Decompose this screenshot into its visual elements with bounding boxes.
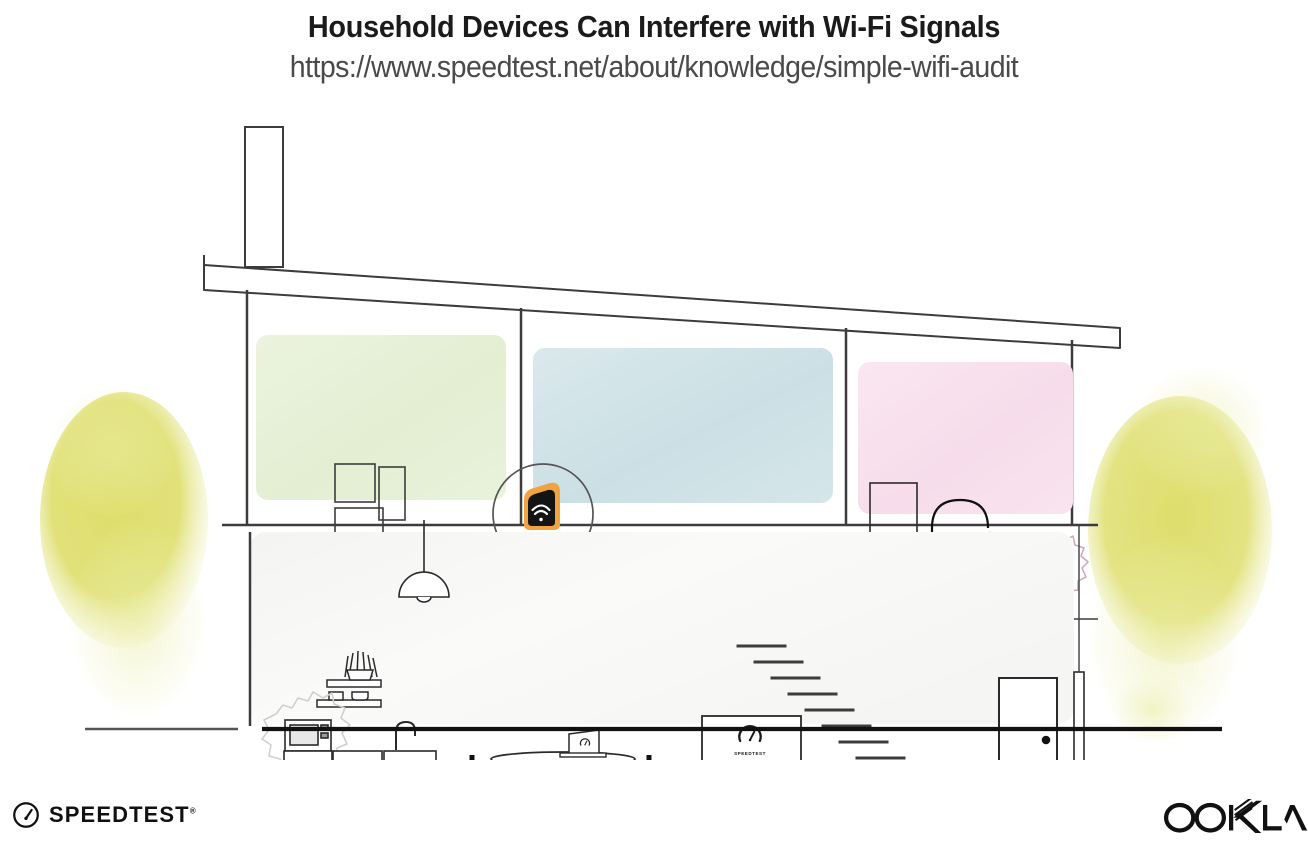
roof-slab: [204, 255, 1120, 348]
laptop-on-table: [560, 730, 606, 757]
foliage-right: [1088, 368, 1272, 742]
footer: SPEEDTEST® ®: [0, 781, 1308, 861]
side-window-pillar: [1074, 525, 1084, 760]
ookla-logo: ®: [1161, 799, 1308, 833]
speedtest-gauge-icon: [12, 801, 40, 829]
foliage-left: [40, 388, 208, 716]
tv-speedtest-label: SPEEDTEST: [734, 751, 766, 756]
house-diagram-svg: SPEEDTEST: [0, 100, 1308, 760]
speedtest-wordmark: SPEEDTEST®: [49, 802, 196, 828]
page-title: Household Devices Can Interfere with Wi-…: [46, 10, 1262, 44]
microwave: [285, 720, 331, 751]
page-root: Household Devices Can Interfere with Wi-…: [0, 0, 1308, 861]
speedtest-logo: SPEEDTEST®: [12, 801, 196, 829]
header: Household Devices Can Interfere with Wi-…: [0, 0, 1308, 86]
television: SPEEDTEST: [702, 716, 801, 760]
main-floor: SPEEDTEST: [250, 520, 1084, 760]
chimney: [245, 127, 283, 267]
door-knob: [1042, 736, 1051, 745]
front-door: [999, 678, 1057, 760]
source-url: https://www.speedtest.net/about/knowledg…: [52, 48, 1255, 86]
house-cutaway-illustration: SPEEDTEST: [0, 100, 1308, 760]
wifi-router: [524, 483, 560, 530]
ookla-k-glyph: [1229, 799, 1262, 833]
registered-mark: ®: [190, 807, 196, 816]
ookla-la-glyph: [1263, 805, 1307, 831]
speedtest-wordmark-text: SPEEDTEST: [49, 802, 190, 827]
